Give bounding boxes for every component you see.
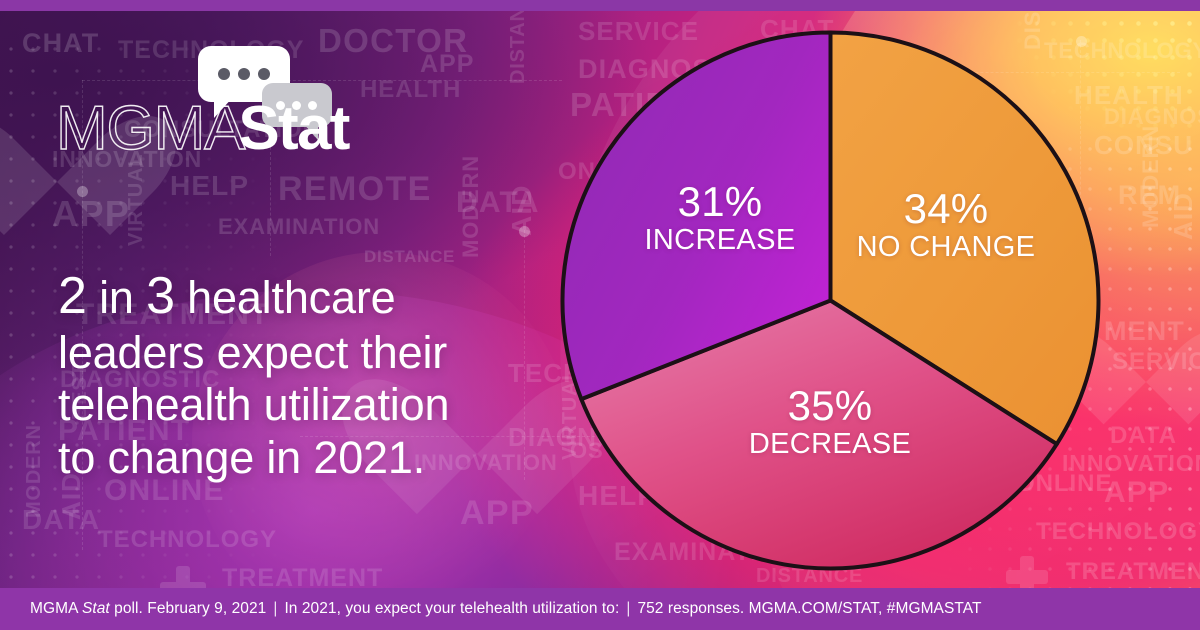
pie-slice-label-no-change: 34% NO CHANGE — [816, 187, 1076, 263]
footer-source-prefix: MGMA — [30, 600, 82, 617]
pie-chart: 34% NO CHANGE 35% DECREASE 31% INCREASE — [558, 28, 1103, 573]
footer-separator: | — [266, 600, 284, 617]
footer-responses: 752 responses. MGMA.COM/STAT, #MGMASTAT — [637, 600, 981, 617]
decorative-node — [519, 226, 530, 237]
pie-chart-svg — [558, 28, 1103, 573]
headline-line-2: leaders expect their — [58, 327, 528, 380]
top-accent-bar — [0, 0, 1200, 11]
logo-text-stat: Stat — [238, 98, 348, 160]
pie-slice-percent: 35% — [700, 384, 960, 428]
headline-in: in — [87, 272, 146, 323]
pie-slice-category: NO CHANGE — [816, 232, 1076, 262]
headline-number-2: 2 — [58, 267, 87, 325]
pie-slice-label-decrease: 35% DECREASE — [700, 384, 960, 460]
headline-line-3: telehealth utilization — [58, 379, 528, 432]
logo-wordmark: MGMA Stat — [56, 98, 349, 160]
pie-slice-label-increase: 31% INCREASE — [590, 180, 850, 256]
pie-slice-percent: 34% — [816, 187, 1076, 231]
pie-slice-percent: 31% — [590, 180, 850, 224]
headline-line-1: 2 in 3 healthcare — [58, 266, 528, 327]
mgma-stat-logo[interactable]: MGMA Stat — [56, 46, 346, 156]
headline-healthcare: healthcare — [175, 272, 396, 323]
infographic-canvas: CHATTECHNOLOGYDOCTORAPPSERVICECHATDIAGNO… — [0, 0, 1200, 630]
headline: 2 in 3 healthcare leaders expect their t… — [58, 266, 528, 485]
logo-text-mgma: MGMA — [56, 98, 244, 160]
headline-line-4: to change in 2021. — [58, 432, 528, 485]
footer-question: In 2021, you expect your telehealth util… — [284, 600, 619, 617]
headline-number-3: 3 — [146, 267, 175, 325]
footer-source-suffix: poll. February 9, 2021 — [110, 600, 267, 617]
footer-bar: MGMA Stat poll. February 9, 2021|In 2021… — [0, 588, 1200, 630]
footer-source-italic: Stat — [82, 600, 110, 617]
footer-separator: | — [619, 600, 637, 617]
footer-source-line: MGMA Stat poll. February 9, 2021|In 2021… — [30, 600, 982, 618]
pie-slice-category: INCREASE — [590, 225, 850, 255]
pie-slice-category: DECREASE — [700, 429, 960, 459]
